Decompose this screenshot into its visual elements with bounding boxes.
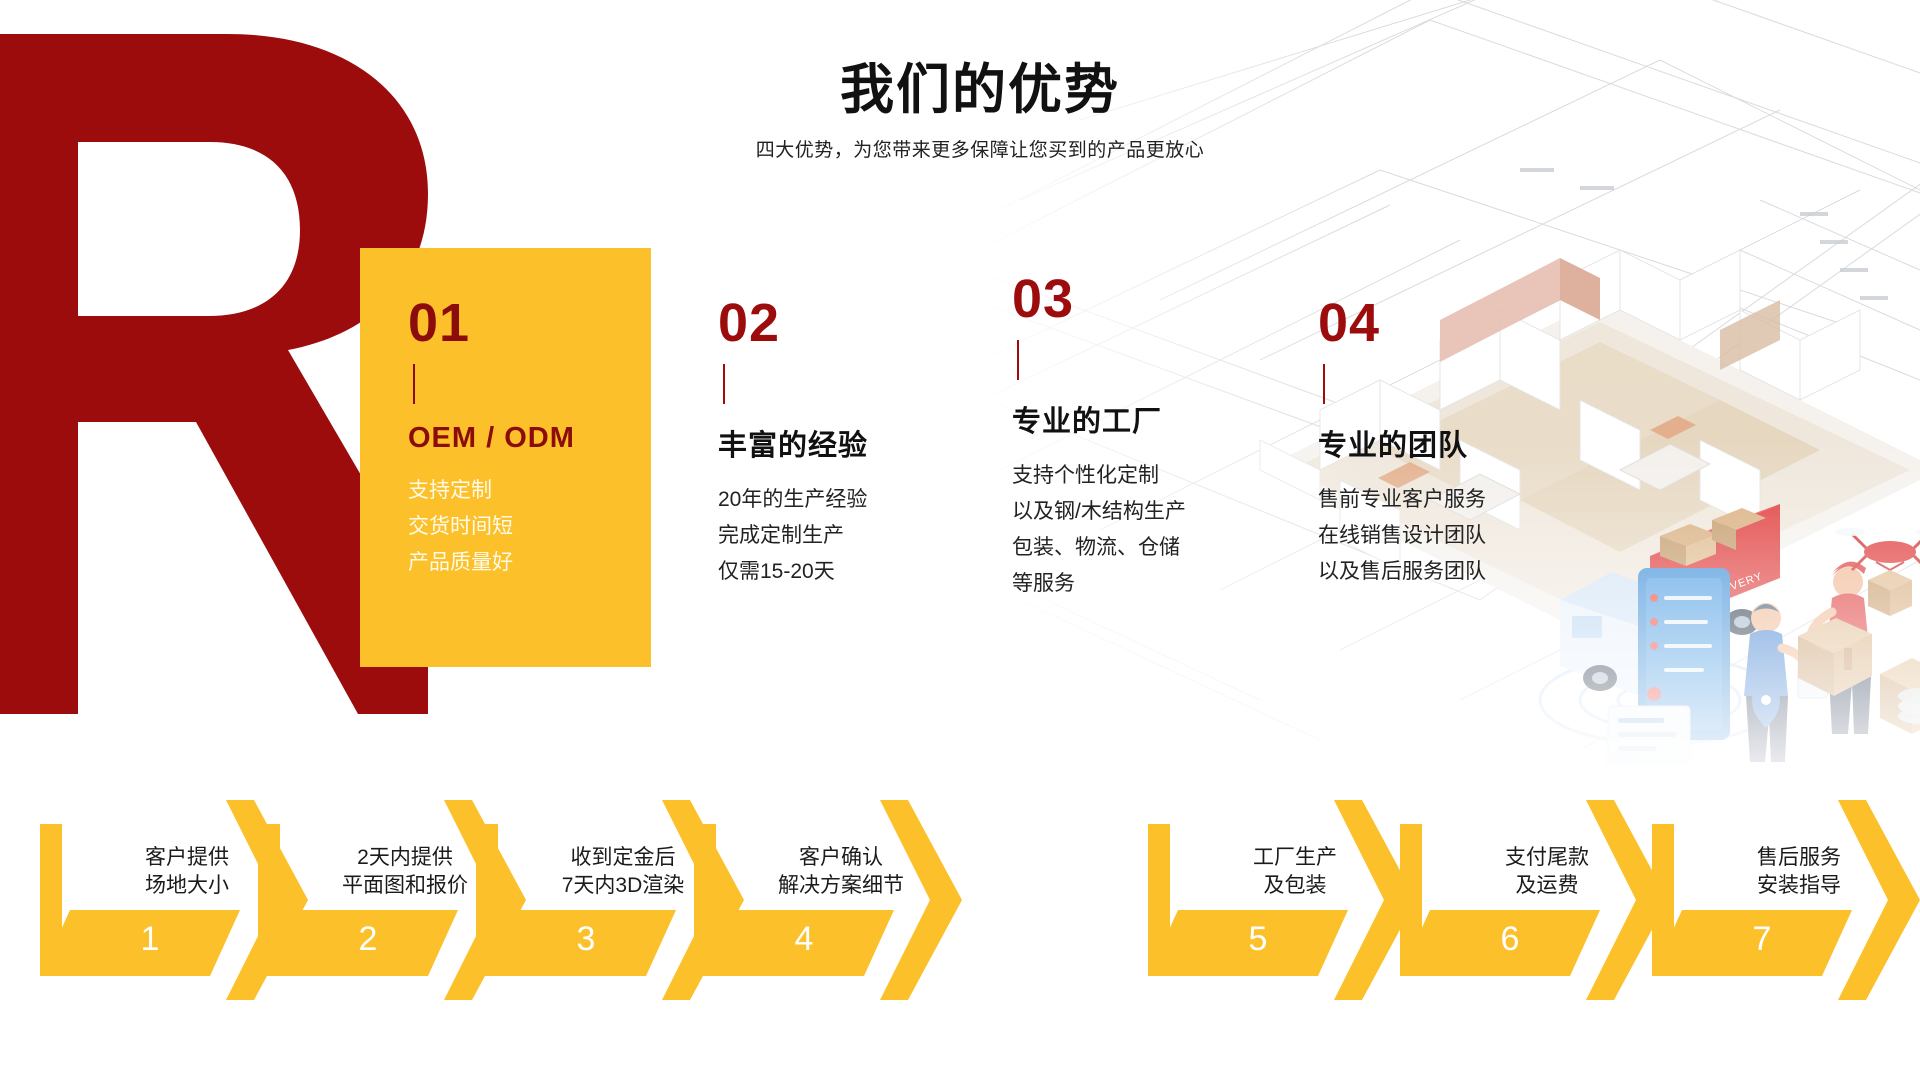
list-item: 交货时间短: [408, 509, 575, 545]
advantage-list: 支持定制 交货时间短 产品质量好: [408, 473, 575, 581]
coin-stack: [1604, 688, 1920, 767]
advantage-title: 丰富的经验: [718, 422, 868, 464]
step-label: 售后服务 安装指导: [1704, 844, 1894, 899]
list-item: 以及售后服务团队: [1318, 554, 1486, 590]
advantage-list: 20年的生产经验 完成定制生产 仅需15-20天: [718, 482, 868, 590]
advantage-card-1[interactable]: 01 OEM / ODM 支持定制 交货时间短 产品质量好: [408, 296, 575, 581]
page-subtitle: 四大优势，为您带来更多保障让您买到的产品更放心: [660, 135, 1300, 162]
list-item: 以及钢/木结构生产: [1012, 494, 1186, 530]
advantage-number: 01: [408, 296, 575, 350]
delivery-drone: [1835, 528, 1920, 616]
advantage-list: 支持个性化定制 以及钢/木结构生产 包装、物流、仓储 等服务: [1012, 458, 1186, 602]
step-label: 客户提供 场地大小: [92, 844, 282, 899]
divider-rule: [1323, 364, 1325, 404]
advantage-title: 专业的工厂: [1012, 398, 1186, 440]
delivery-truck: DELIVERY: [1560, 504, 1780, 700]
step-number: 6: [1460, 920, 1560, 959]
step-number: 5: [1208, 920, 1308, 959]
delivery-scene: DELIVERY: [1540, 504, 1920, 767]
divider-rule: [413, 364, 415, 404]
process-step-6[interactable]: 支付尾款 及运费 6: [1400, 800, 1668, 1000]
process-step-4[interactable]: 客户确认 解决方案细节 4: [694, 800, 962, 1000]
divider-rule: [1017, 340, 1019, 380]
advantage-card-2[interactable]: 02 丰富的经验 20年的生产经验 完成定制生产 仅需15-20天: [718, 296, 868, 590]
list-item: 在线销售设计团队: [1318, 518, 1486, 554]
list-item: 售前专业客户服务: [1318, 482, 1486, 518]
list-item: 仅需15-20天: [718, 554, 868, 590]
list-item: 完成定制生产: [718, 518, 868, 554]
step-label: 收到定金后 7天内3D渲染: [528, 844, 718, 899]
clipboard: [1798, 660, 1828, 698]
advantage-list: 售前专业客户服务 在线销售设计团队 以及售后服务团队: [1318, 482, 1486, 590]
svg-text:DELIVERY: DELIVERY: [1702, 570, 1765, 603]
process-step-5[interactable]: 工厂生产 及包装 5: [1148, 800, 1416, 1000]
list-item: 等服务: [1012, 566, 1186, 602]
advantage-title: 专业的团队: [1318, 422, 1486, 464]
advantage-number: 02: [718, 296, 868, 350]
advantage-card-3[interactable]: 03 专业的工厂 支持个性化定制 以及钢/木结构生产 包装、物流、仓储 等服务: [1012, 272, 1186, 602]
step-label: 2天内提供 平面图和报价: [310, 844, 500, 899]
list-item: 支持个性化定制: [1012, 458, 1186, 494]
list-item: 20年的生产经验: [718, 482, 868, 518]
person-customer: [1744, 603, 1808, 762]
step-label: 工厂生产 及包装: [1200, 844, 1390, 899]
step-number: 1: [100, 920, 200, 959]
divider-rule: [723, 364, 725, 404]
advantage-number: 03: [1012, 272, 1186, 326]
step-number: 4: [754, 920, 854, 959]
header: 我们的优势 四大优势，为您带来更多保障让您买到的产品更放心: [660, 62, 1300, 162]
process-step-7[interactable]: 售后服务 安装指导 7: [1652, 800, 1920, 1000]
advantage-number: 04: [1318, 296, 1486, 350]
step-number: 7: [1712, 920, 1812, 959]
location-pin-icon: [1752, 686, 1780, 728]
carried-box: [1798, 618, 1872, 696]
list-item: 包装、物流、仓储: [1012, 530, 1186, 566]
step-number: 2: [318, 920, 418, 959]
list-item: 支持定制: [408, 473, 575, 509]
page-title: 我们的优势: [660, 62, 1300, 119]
stacked-boxes: [1880, 658, 1920, 734]
info-card: [1608, 706, 1690, 762]
advantage-title: OEM / ODM: [408, 422, 575, 455]
person-courier: [1810, 562, 1872, 734]
step-number: 3: [536, 920, 636, 959]
step-label: 客户确认 解决方案细节: [746, 844, 936, 899]
step-label: 支付尾款 及运费: [1452, 844, 1642, 899]
list-item: 产品质量好: [408, 545, 575, 581]
process-flow: 客户提供 场地大小 1 2天内提供 平面图和报价 2 收到定金后 7天内3D渲染…: [0, 800, 1920, 1020]
tablet-device: [1638, 568, 1730, 740]
advantage-card-4[interactable]: 04 专业的团队 售前专业客户服务 在线销售设计团队 以及售后服务团队: [1318, 296, 1486, 590]
